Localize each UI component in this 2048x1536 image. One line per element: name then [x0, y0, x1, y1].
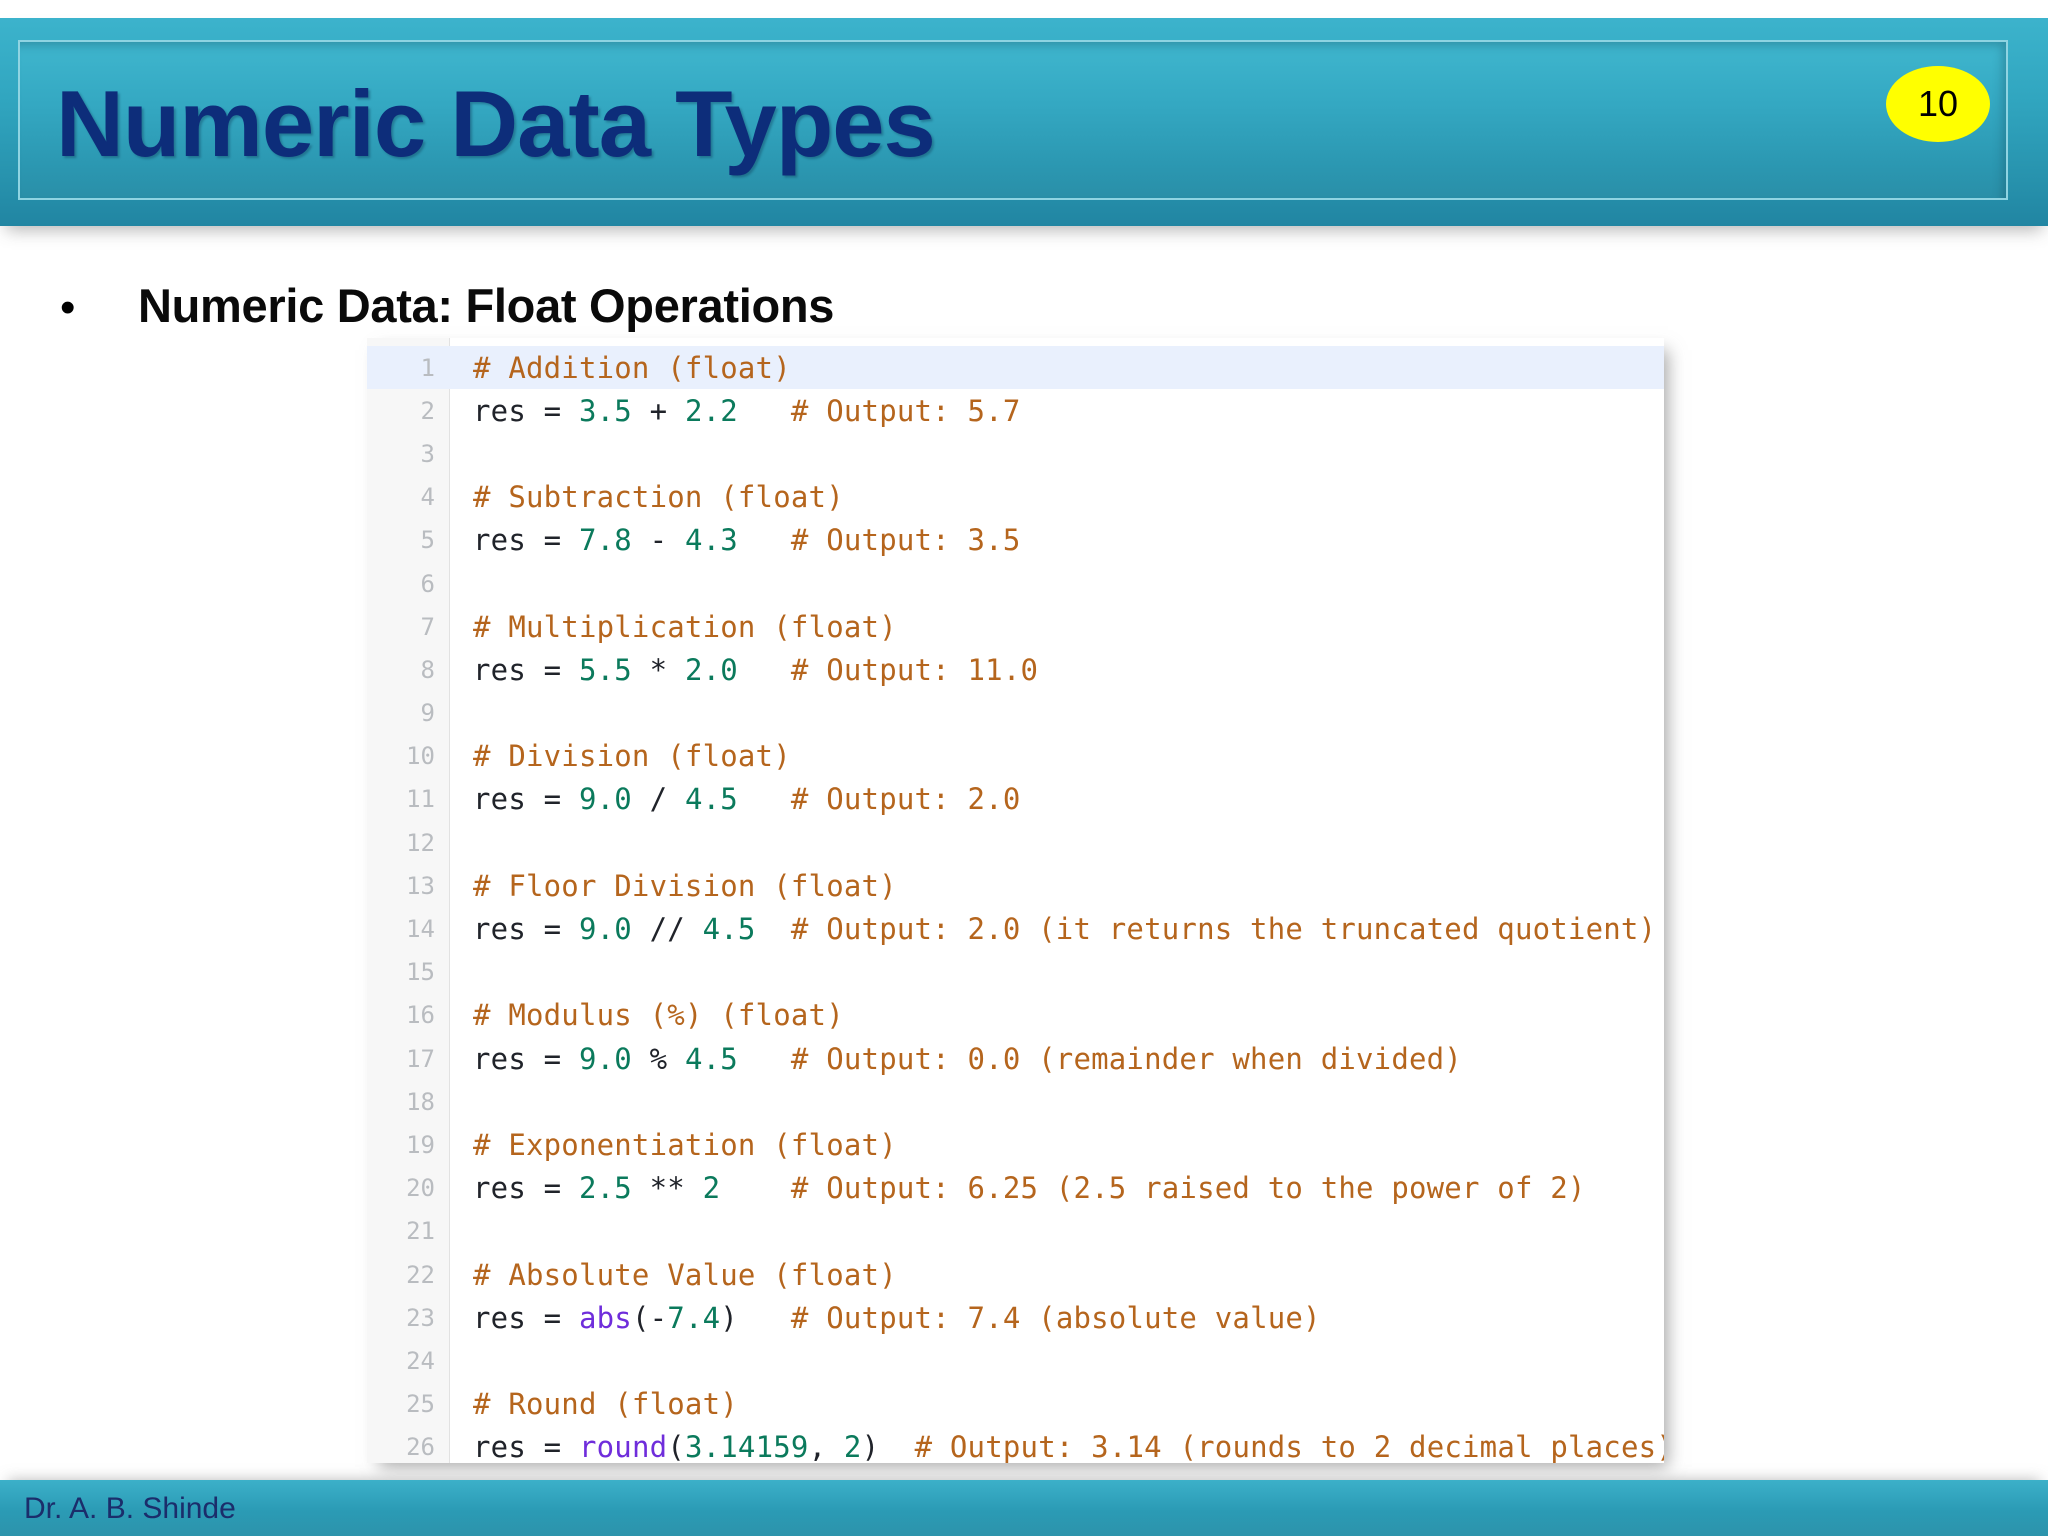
code-token: 9.0 [579, 912, 632, 946]
code-line-text: # Subtraction (float) [449, 480, 1664, 514]
line-number: 4 [367, 483, 449, 511]
code-token: 2 [844, 1430, 862, 1463]
code-line[interactable]: 2res = 3.5 + 2.2 # Output: 5.7 [367, 389, 1664, 432]
code-token [738, 523, 791, 557]
code-line-text: # Floor Division (float) [449, 869, 1664, 903]
code-token: 5.5 [579, 653, 632, 687]
code-line[interactable]: 26res = round(3.14159, 2) # Output: 3.14… [367, 1426, 1664, 1463]
code-token: 4.5 [685, 782, 738, 816]
code-line-text: res = 9.0 / 4.5 # Output: 2.0 [449, 782, 1664, 816]
code-token: # Round (float) [473, 1387, 738, 1421]
code-block[interactable]: 1# Addition (float)2res = 3.5 + 2.2 # Ou… [367, 338, 1664, 1463]
line-number: 10 [367, 742, 449, 770]
line-number: 20 [367, 1174, 449, 1202]
code-line[interactable]: 12 [367, 821, 1664, 864]
code-line[interactable]: 20res = 2.5 ** 2 # Output: 6.25 (2.5 rai… [367, 1167, 1664, 1210]
code-token [738, 653, 791, 687]
slide-number-badge: 10 [1886, 66, 1990, 142]
line-number: 2 [367, 397, 449, 425]
code-token: - [632, 523, 685, 557]
code-token [738, 394, 791, 428]
code-line-text: # Round (float) [449, 1387, 1664, 1421]
line-number: 21 [367, 1217, 449, 1245]
line-number: 26 [367, 1433, 449, 1461]
code-line-text: # Multiplication (float) [449, 610, 1664, 644]
code-token: ) [720, 1301, 738, 1335]
code-token: res = [473, 1171, 579, 1205]
code-token: 7.4 [667, 1301, 720, 1335]
code-token: 9.0 [579, 1042, 632, 1076]
slide-footer-band: Dr. A. B. Shinde [0, 1480, 2048, 1536]
code-token: (- [632, 1301, 667, 1335]
code-line-text: # Modulus (%) (float) [449, 998, 1664, 1032]
code-token: 2 [703, 1171, 721, 1205]
code-token: res = [473, 653, 579, 687]
code-token: # Exponentiation (float) [473, 1128, 897, 1162]
line-number: 3 [367, 440, 449, 468]
code-line[interactable]: 13# Floor Division (float) [367, 864, 1664, 907]
code-line-text: # Addition (float) [449, 351, 1664, 385]
code-token: 4.5 [703, 912, 756, 946]
code-line-text: res = 3.5 + 2.2 # Output: 5.7 [449, 394, 1664, 428]
code-line-text: res = 9.0 % 4.5 # Output: 0.0 (remainder… [449, 1042, 1664, 1076]
code-token: # Output: 7.4 (absolute value) [791, 1301, 1321, 1335]
code-line-text: res = 9.0 // 4.5 # Output: 2.0 (it retur… [449, 912, 1664, 946]
code-token: # Output: 0.0 (remainder when divided) [791, 1042, 1462, 1076]
footer-author-label: Dr. A. B. Shinde [24, 1492, 236, 1526]
code-token [738, 782, 791, 816]
code-token: res = [473, 912, 579, 946]
code-line-text: res = 7.8 - 4.3 # Output: 3.5 [449, 523, 1664, 557]
line-number: 25 [367, 1390, 449, 1418]
code-line-text: res = 2.5 ** 2 # Output: 6.25 (2.5 raise… [449, 1171, 1664, 1205]
code-token [738, 1301, 791, 1335]
code-line-text: res = 5.5 * 2.0 # Output: 11.0 [449, 653, 1664, 687]
page-title: Numeric Data Types [56, 70, 935, 178]
line-number: 18 [367, 1088, 449, 1116]
code-token: 2.2 [685, 394, 738, 428]
line-number: 17 [367, 1045, 449, 1073]
line-number: 14 [367, 915, 449, 943]
line-number: 9 [367, 699, 449, 727]
code-token: # Output: 5.7 [791, 394, 1021, 428]
bullet-dot-icon: • [60, 286, 138, 330]
code-token: // [632, 912, 703, 946]
code-token: 4.3 [685, 523, 738, 557]
line-number: 15 [367, 958, 449, 986]
code-line[interactable]: 15 [367, 951, 1664, 994]
bullet-heading-row: • Numeric Data: Float Operations [60, 278, 834, 333]
code-token [756, 912, 791, 946]
code-token: 9.0 [579, 782, 632, 816]
code-token [879, 1430, 914, 1463]
code-token: # Absolute Value (float) [473, 1258, 897, 1292]
code-token: ) [862, 1430, 880, 1463]
code-line[interactable]: 11res = 9.0 / 4.5 # Output: 2.0 [367, 778, 1664, 821]
code-line[interactable]: 24 [367, 1339, 1664, 1382]
code-token: ** [632, 1171, 703, 1205]
code-token: * [632, 653, 685, 687]
code-token: # Subtraction (float) [473, 480, 844, 514]
code-token: # Output: 6.25 (2.5 raised to the power … [791, 1171, 1586, 1205]
code-token: # Output: 2.0 (it returns the truncated … [791, 912, 1656, 946]
slide-title-banner: Numeric Data Types 10 [0, 18, 2048, 226]
code-token: # Modulus (%) (float) [473, 998, 844, 1032]
code-token: + [632, 394, 685, 428]
code-token: 7.8 [579, 523, 632, 557]
line-number: 7 [367, 613, 449, 641]
code-token: 2.0 [685, 653, 738, 687]
code-token: res = [473, 1430, 579, 1463]
code-line[interactable]: 8res = 5.5 * 2.0 # Output: 11.0 [367, 648, 1664, 691]
code-token: res = [473, 523, 579, 557]
code-line[interactable]: 7# Multiplication (float) [367, 605, 1664, 648]
line-number: 19 [367, 1131, 449, 1159]
code-line-text: # Division (float) [449, 739, 1664, 773]
code-token: 2.5 [579, 1171, 632, 1205]
code-token: res = [473, 782, 579, 816]
code-token: % [632, 1042, 685, 1076]
line-number: 23 [367, 1304, 449, 1332]
code-line[interactable]: 14res = 9.0 // 4.5 # Output: 2.0 (it ret… [367, 907, 1664, 950]
code-line[interactable]: 9 [367, 692, 1664, 735]
code-token: # Division (float) [473, 739, 791, 773]
code-line[interactable]: 19# Exponentiation (float) [367, 1123, 1664, 1166]
code-line[interactable]: 6 [367, 562, 1664, 605]
code-token: ( [667, 1430, 685, 1463]
code-line[interactable]: 5res = 7.8 - 4.3 # Output: 3.5 [367, 519, 1664, 562]
line-number: 24 [367, 1347, 449, 1375]
code-token: 3.14159 [685, 1430, 809, 1463]
code-line[interactable]: 18 [367, 1080, 1664, 1123]
line-number: 8 [367, 656, 449, 684]
code-token: 3.5 [579, 394, 632, 428]
code-line[interactable]: 21 [367, 1210, 1664, 1253]
code-line-text: res = round(3.14159, 2) # Output: 3.14 (… [449, 1430, 1664, 1463]
bullet-heading-label: Numeric Data: Float Operations [138, 278, 834, 333]
code-line-text: res = abs(-7.4) # Output: 7.4 (absolute … [449, 1301, 1664, 1335]
line-number: 11 [367, 785, 449, 813]
line-number: 16 [367, 1001, 449, 1029]
code-token: # Addition (float) [473, 351, 791, 385]
code-token: res = [473, 1301, 579, 1335]
code-token: , [809, 1430, 844, 1463]
code-token: abs [579, 1301, 632, 1335]
code-line[interactable]: 16# Modulus (%) (float) [367, 994, 1664, 1037]
code-token: / [632, 782, 685, 816]
code-line[interactable]: 23res = abs(-7.4) # Output: 7.4 (absolut… [367, 1296, 1664, 1339]
code-line[interactable]: 22# Absolute Value (float) [367, 1253, 1664, 1296]
code-line[interactable]: 25# Round (float) [367, 1383, 1664, 1426]
code-token [738, 1042, 791, 1076]
code-token: round [579, 1430, 667, 1463]
code-line-text: # Absolute Value (float) [449, 1258, 1664, 1292]
line-number: 5 [367, 526, 449, 554]
line-number: 12 [367, 829, 449, 857]
code-line[interactable]: 1# Addition (float) [367, 346, 1664, 389]
code-token: # Output: 2.0 [791, 782, 1021, 816]
line-number: 13 [367, 872, 449, 900]
code-token: res = [473, 1042, 579, 1076]
code-token: res = [473, 394, 579, 428]
code-line-text: # Exponentiation (float) [449, 1128, 1664, 1162]
code-token: # Multiplication (float) [473, 610, 897, 644]
line-number: 6 [367, 570, 449, 598]
code-line[interactable]: 17res = 9.0 % 4.5 # Output: 0.0 (remaind… [367, 1037, 1664, 1080]
code-token: # Output: 3.14 (rounds to 2 decimal plac… [915, 1430, 1664, 1463]
code-token: # Floor Division (float) [473, 869, 897, 903]
line-number: 1 [367, 354, 449, 382]
line-number: 22 [367, 1261, 449, 1289]
code-lines-container: 1# Addition (float)2res = 3.5 + 2.2 # Ou… [367, 346, 1664, 1463]
code-token: # Output: 11.0 [791, 653, 1038, 687]
code-line[interactable]: 4# Subtraction (float) [367, 476, 1664, 519]
code-token: 4.5 [685, 1042, 738, 1076]
code-token: # Output: 3.5 [791, 523, 1021, 557]
code-line[interactable]: 3 [367, 432, 1664, 475]
code-token [720, 1171, 791, 1205]
code-line[interactable]: 10# Division (float) [367, 735, 1664, 778]
